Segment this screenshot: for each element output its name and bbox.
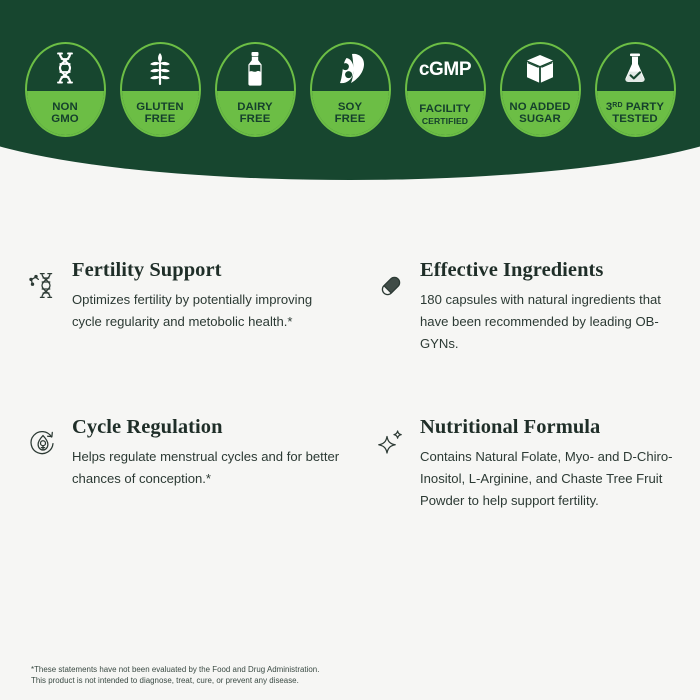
badge-label: NON GMO	[27, 102, 104, 126]
dna-molecule-icon	[28, 258, 72, 303]
badge-label: GLUTEN FREE	[122, 102, 199, 126]
badge-label: NO ADDED SUGAR	[502, 102, 579, 126]
disclaimer-line-1: *These statements have not been evaluate…	[31, 665, 319, 676]
badge-soy-free: SOY FREE	[310, 42, 391, 137]
feature-title: Cycle Regulation	[72, 415, 376, 439]
soy-pod-icon	[312, 49, 389, 89]
capsule-icon	[376, 258, 420, 301]
badge-no-added-sugar: NO ADDED SUGAR	[500, 42, 581, 137]
dna-icon	[27, 49, 104, 89]
milk-bottle-icon	[217, 49, 294, 89]
disclaimer-line-2: This product is not intended to diagnose…	[31, 676, 319, 687]
feature-description: Optimizes fertility by potentially impro…	[72, 289, 344, 333]
feature-grid: Fertility Support Optimizes fertility by…	[0, 258, 700, 512]
badge-cgmp-facility-certified: cGMP FACILITY CERTIFIED	[405, 42, 486, 137]
trust-badge-header: NON GMO	[0, 0, 700, 180]
feature-title: Fertility Support	[72, 258, 376, 282]
feature-description: Helps regulate menstrual cycles and for …	[72, 446, 344, 490]
trust-badge-row: NON GMO	[0, 0, 700, 180]
flask-check-icon	[597, 49, 674, 89]
feature-title: Effective Ingredients	[420, 258, 700, 282]
badge-label: SOY FREE	[312, 102, 389, 126]
badge-gluten-free: GLUTEN FREE	[120, 42, 201, 137]
badge-label: FACILITY CERTIFIED	[407, 104, 484, 126]
feature-cycle-regulation: Cycle Regulation Helps regulate menstrua…	[28, 415, 376, 512]
badge-non-gmo: NON GMO	[25, 42, 106, 137]
fda-disclaimer: *These statements have not been evaluate…	[31, 665, 319, 686]
feature-body: Cycle Regulation Helps regulate menstrua…	[72, 415, 376, 490]
badge-label: DAIRY FREE	[217, 102, 294, 126]
cgmp-wordmark-text: cGMP	[419, 60, 471, 79]
cycle-droplet-icon	[28, 415, 72, 458]
feature-title: Nutritional Formula	[420, 415, 700, 439]
feature-fertility-support: Fertility Support Optimizes fertility by…	[28, 258, 376, 355]
feature-nutritional-formula: Nutritional Formula Contains Natural Fol…	[376, 415, 700, 512]
feature-body: Nutritional Formula Contains Natural Fol…	[420, 415, 700, 512]
badge-label: 3RD PARTY TESTED	[597, 100, 674, 126]
badge-dairy-free: DAIRY FREE	[215, 42, 296, 137]
sugar-cube-icon	[502, 49, 579, 89]
cgmp-wordmark: cGMP	[407, 49, 484, 89]
sparkle-icon	[376, 415, 420, 458]
feature-body: Fertility Support Optimizes fertility by…	[72, 258, 376, 333]
feature-body: Effective Ingredients 180 capsules with …	[420, 258, 700, 355]
wheat-icon	[122, 49, 199, 89]
badge-third-party-tested: 3RD PARTY TESTED	[595, 42, 676, 137]
feature-description: Contains Natural Folate, Myo- and D-Chir…	[420, 446, 682, 512]
feature-effective-ingredients: Effective Ingredients 180 capsules with …	[376, 258, 700, 355]
feature-description: 180 capsules with natural ingredients th…	[420, 289, 682, 355]
